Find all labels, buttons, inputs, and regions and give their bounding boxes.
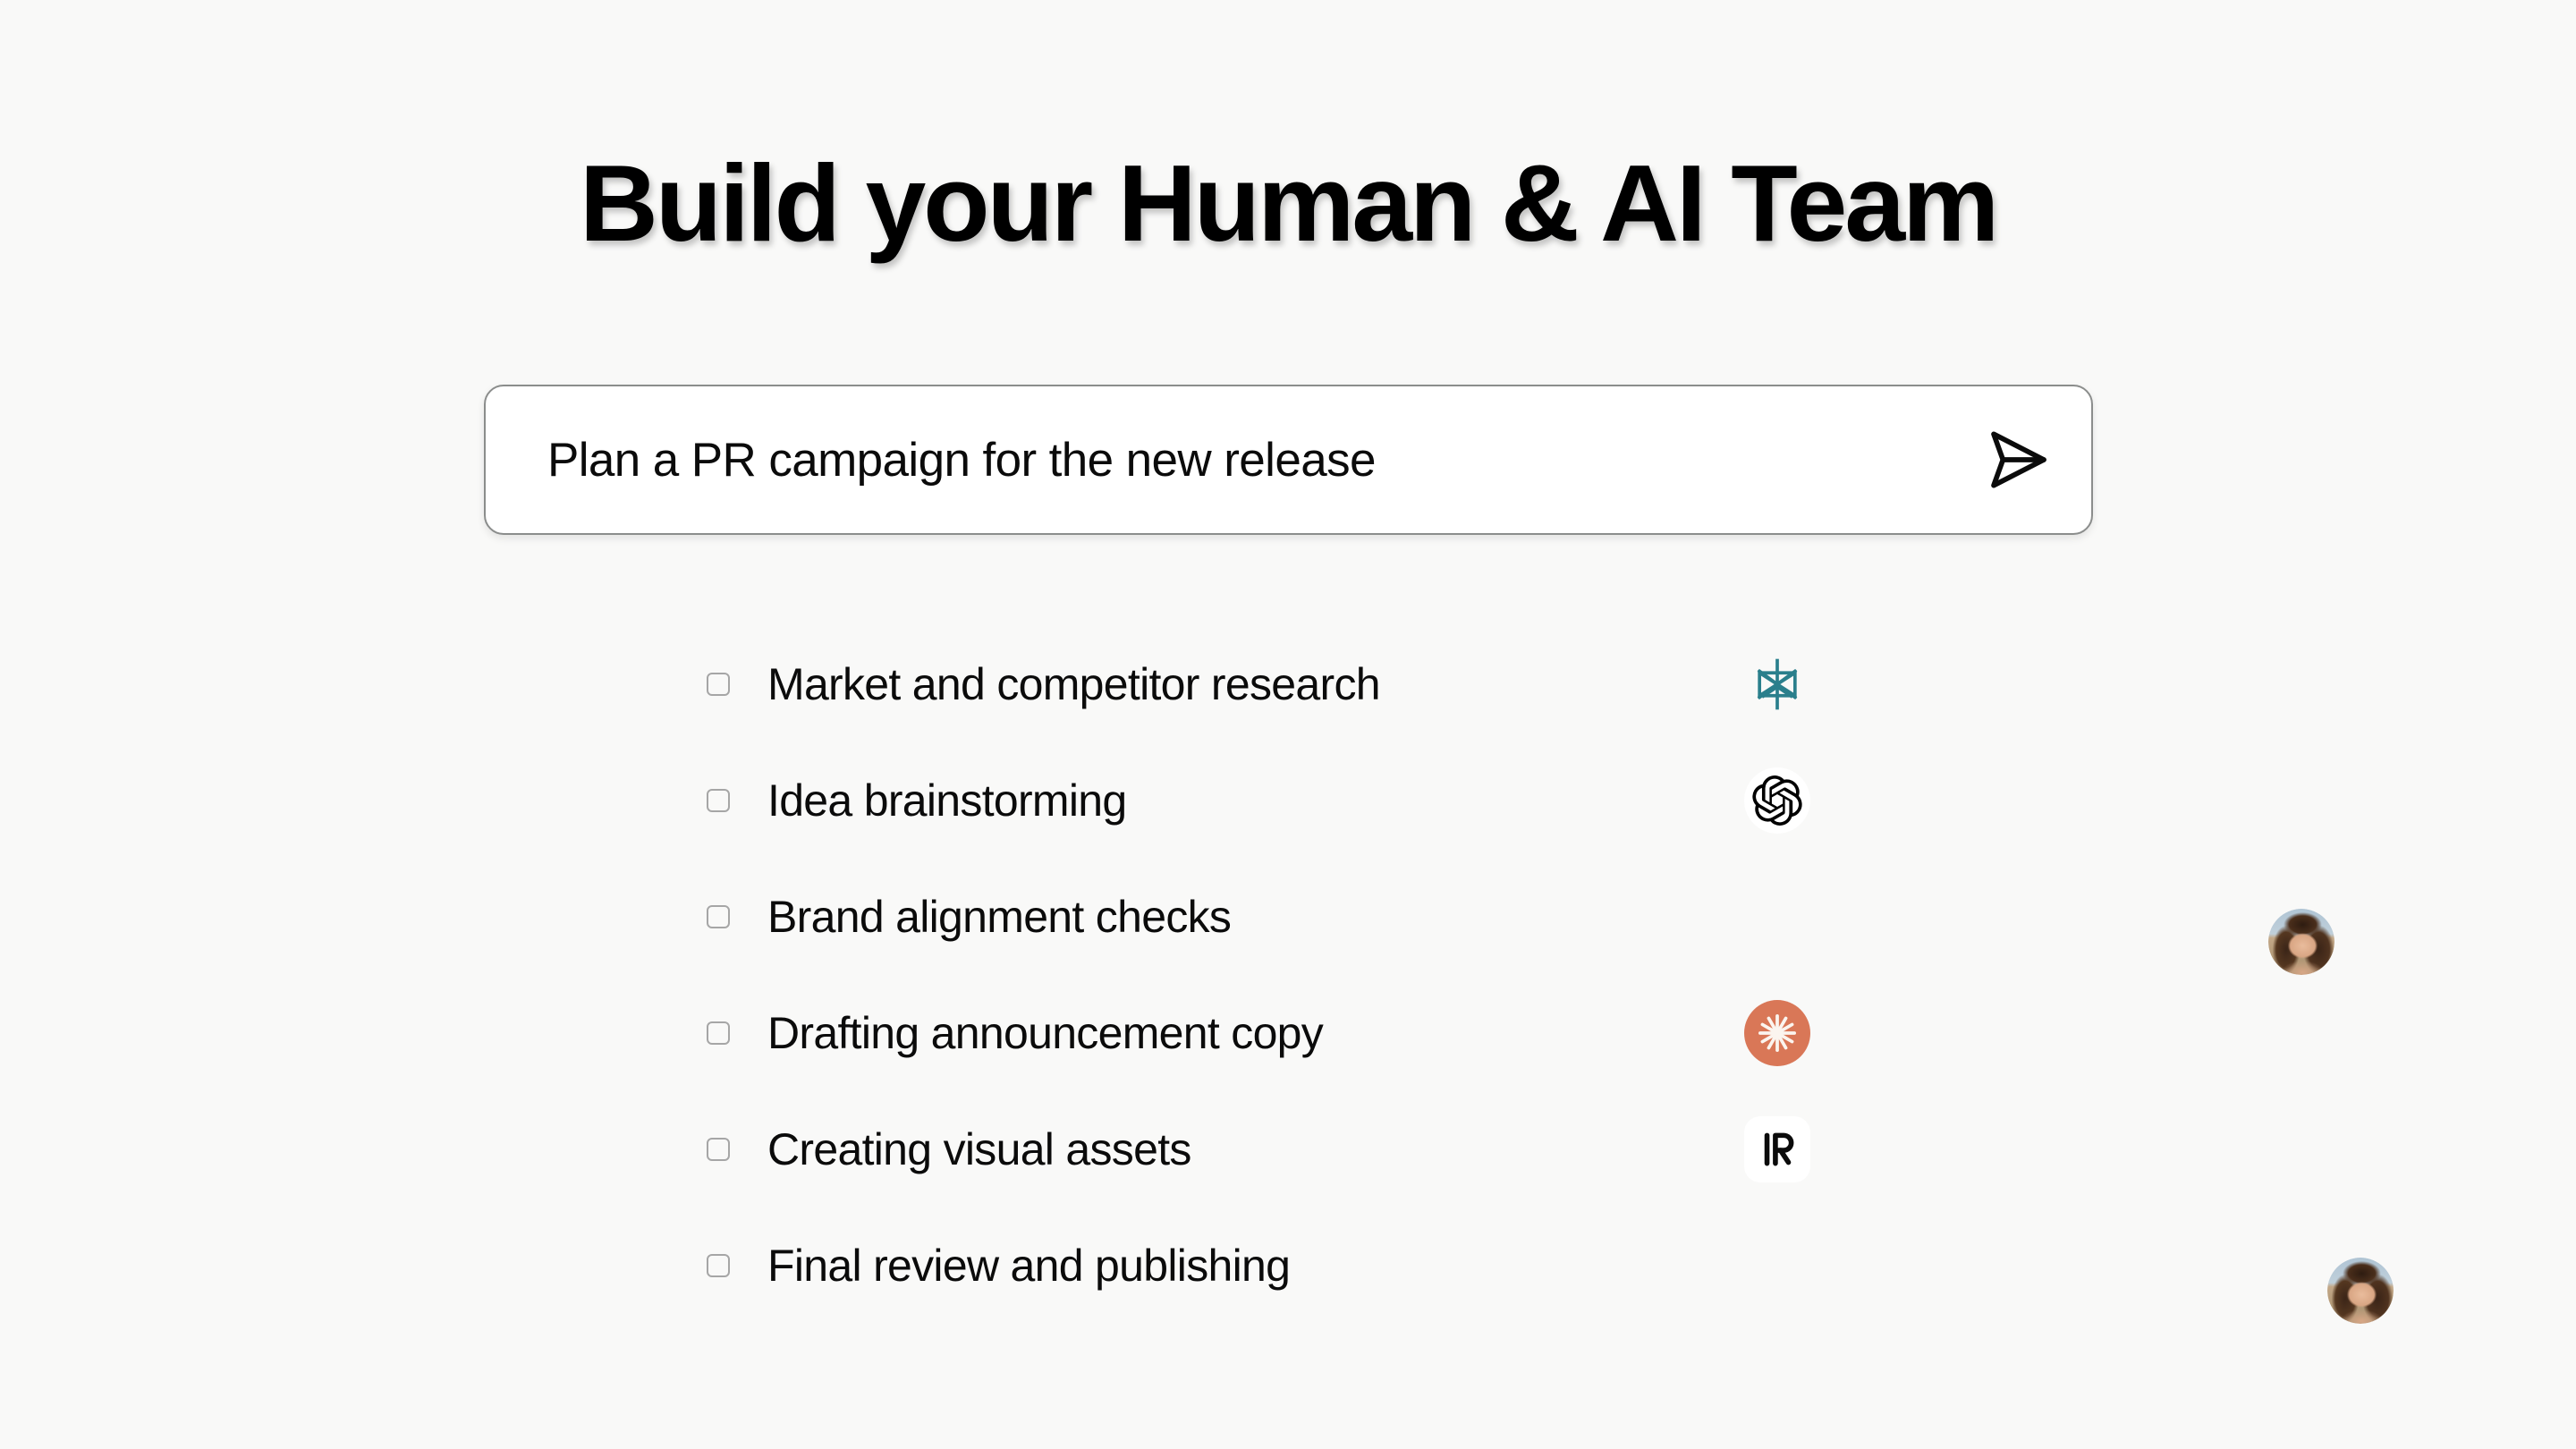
task-label: Creating visual assets: [767, 1123, 1191, 1175]
claude-logo-icon: [1744, 1000, 1810, 1066]
task-label: Idea brainstorming: [767, 775, 1127, 826]
user-avatar: [2327, 1258, 2394, 1324]
avatar-image: [2327, 1258, 2394, 1324]
task-label: Final review and publishing: [767, 1240, 1290, 1292]
task-label: Brand alignment checks: [767, 891, 1231, 943]
page-root: Build your Human & AI Team Market and co…: [0, 0, 2576, 1449]
send-button[interactable]: [1968, 411, 2066, 509]
avatar-image: [2268, 909, 2334, 975]
openai-logo-icon: [1744, 767, 1810, 834]
task-row[interactable]: Creating visual assets: [707, 1091, 1869, 1207]
task-checkbox[interactable]: [707, 1138, 730, 1161]
prompt-input[interactable]: [547, 386, 1968, 533]
task-checkbox[interactable]: [707, 905, 730, 928]
prompt-bar[interactable]: [484, 385, 2093, 535]
task-label: Drafting announcement copy: [767, 1007, 1323, 1059]
task-checkbox[interactable]: [707, 1254, 730, 1277]
recraft-logo-icon: [1744, 1116, 1810, 1182]
task-row[interactable]: Brand alignment checks: [707, 859, 1869, 975]
task-label: Market and competitor research: [767, 658, 1380, 710]
task-checkbox[interactable]: [707, 673, 730, 696]
user-avatar: [2268, 909, 2334, 975]
task-list: Market and competitor research Idea brai…: [707, 626, 1869, 1324]
task-checkbox[interactable]: [707, 789, 730, 812]
task-row[interactable]: Idea brainstorming: [707, 742, 1869, 859]
task-row[interactable]: Drafting announcement copy: [707, 975, 1869, 1091]
task-row[interactable]: Final review and publishing: [707, 1207, 1869, 1324]
task-checkbox[interactable]: [707, 1021, 730, 1045]
page-title: Build your Human & AI Team: [0, 148, 2576, 258]
task-row[interactable]: Market and competitor research: [707, 626, 1869, 742]
send-icon: [1981, 424, 2053, 496]
perplexity-logo-icon: [1744, 651, 1810, 717]
